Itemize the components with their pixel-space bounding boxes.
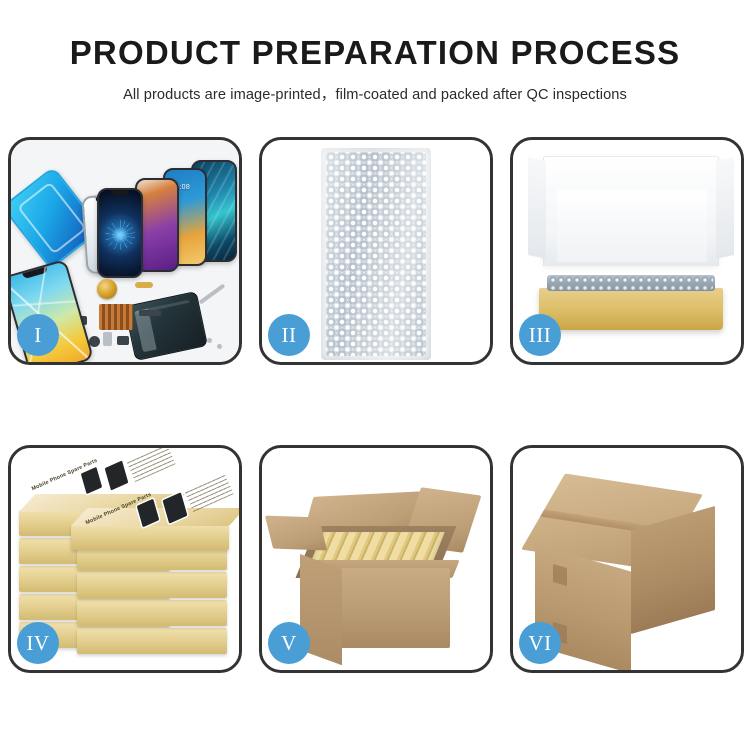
notch-icon xyxy=(112,190,129,196)
bubble-wrap-sheet xyxy=(321,148,431,360)
chip-grid-part xyxy=(99,304,133,330)
foam-insert xyxy=(557,190,707,262)
tweezers-tool xyxy=(199,284,226,305)
notch-icon xyxy=(22,267,47,280)
step-badge-6: VI xyxy=(519,622,561,664)
step-panel-4: Mobile Phone Spare Parts Mobile Phone Sp… xyxy=(8,445,242,673)
process-steps-grid: 10:08 xyxy=(8,137,744,673)
yellow-box-tray xyxy=(539,288,723,330)
printed-screen-graphic xyxy=(81,467,102,494)
step-panel-1: 10:08 xyxy=(8,137,242,365)
step-panel-5: V xyxy=(259,445,493,673)
header: PRODUCT PREPARATION PROCESS All products… xyxy=(0,34,750,104)
bubble-sheen xyxy=(321,148,431,360)
wallpaper-burst-icon xyxy=(105,220,135,250)
printed-screen-graphic xyxy=(105,460,129,490)
phone-logic-board-part xyxy=(124,291,208,361)
copper-coil-part xyxy=(97,279,117,299)
step-panel-6: VI xyxy=(510,445,744,673)
speaker-part xyxy=(89,336,100,347)
vibrator-part xyxy=(117,336,129,345)
phone-jellyfish-wallpaper xyxy=(97,188,143,278)
step-badge-1: I xyxy=(17,314,59,356)
product-preparation-infographic: PRODUCT PREPARATION PROCESS All products… xyxy=(0,0,750,750)
carton-tape-mark xyxy=(553,564,567,586)
retail-box xyxy=(77,572,227,598)
printed-spec-lines xyxy=(126,448,175,482)
printed-spec-lines xyxy=(184,474,233,512)
step-badge-2: II xyxy=(268,314,310,356)
screw-part xyxy=(207,338,212,343)
retail-box xyxy=(77,628,227,654)
step-panel-3: III xyxy=(510,137,744,365)
step-badge-3: III xyxy=(519,314,561,356)
screw-part xyxy=(217,344,222,349)
page-title: PRODUCT PREPARATION PROCESS xyxy=(0,34,750,72)
step-badge-4: IV xyxy=(17,622,59,664)
page-subtitle: All products are image-printed，film-coat… xyxy=(0,83,750,104)
carton-flap-left xyxy=(265,516,327,551)
flex-cable-part xyxy=(135,282,153,288)
step-badge-5: V xyxy=(268,622,310,664)
carton-side-face xyxy=(631,506,715,634)
sim-tray-part xyxy=(103,332,112,346)
step-panel-2: II xyxy=(259,137,493,365)
ribbon-cable-part xyxy=(139,310,161,316)
retail-box-printed xyxy=(71,524,229,550)
retail-box xyxy=(77,600,227,626)
